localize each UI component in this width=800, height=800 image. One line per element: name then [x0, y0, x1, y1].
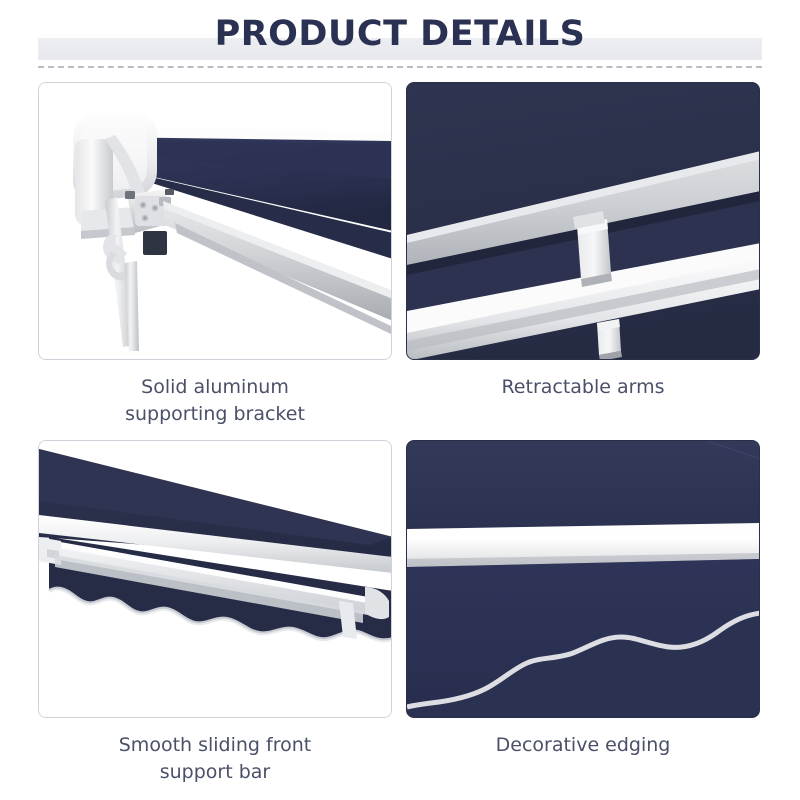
- caption-line-1: Retractable arms: [406, 374, 760, 401]
- caption-line-1: Smooth sliding front: [38, 732, 392, 759]
- page-title: PRODUCT DETAILS: [0, 14, 800, 54]
- arms-illustration: [407, 83, 759, 359]
- header: PRODUCT DETAILS: [0, 0, 800, 72]
- panel-image-front-bar: [38, 440, 392, 718]
- panel-image-bracket: [38, 82, 392, 360]
- panel-grid: Solid aluminum supporting bracket: [0, 82, 800, 782]
- edging-illustration: [407, 441, 759, 717]
- panel-smooth-sliding-front-support-bar: Smooth sliding front support bar: [38, 440, 394, 786]
- caption-decorative-edging: Decorative edging: [406, 732, 760, 759]
- product-details-infographic: PRODUCT DETAILS: [0, 0, 800, 800]
- panel-retractable-arms: Retractable arms: [406, 82, 762, 401]
- header-divider: [38, 66, 762, 68]
- caption-line-2: support bar: [38, 759, 392, 786]
- caption-line-2: supporting bracket: [38, 401, 392, 428]
- panel-image-edging: [406, 440, 760, 718]
- arm-joint-lower: [597, 319, 622, 360]
- caption-retractable-arms: Retractable arms: [406, 374, 760, 401]
- caption-line-1: Decorative edging: [406, 732, 760, 759]
- panel-solid-aluminum-supporting-bracket: Solid aluminum supporting bracket: [38, 82, 394, 428]
- front-bar-illustration: [39, 441, 391, 717]
- bracket-illustration: [39, 83, 391, 359]
- caption-smooth-sliding-front-support-bar: Smooth sliding front support bar: [38, 732, 392, 786]
- caption-line-1: Solid aluminum: [38, 374, 392, 401]
- panel-decorative-edging: Decorative edging: [406, 440, 762, 759]
- panel-image-arms: [406, 82, 760, 360]
- caption-solid-aluminum-supporting-bracket: Solid aluminum supporting bracket: [38, 374, 392, 428]
